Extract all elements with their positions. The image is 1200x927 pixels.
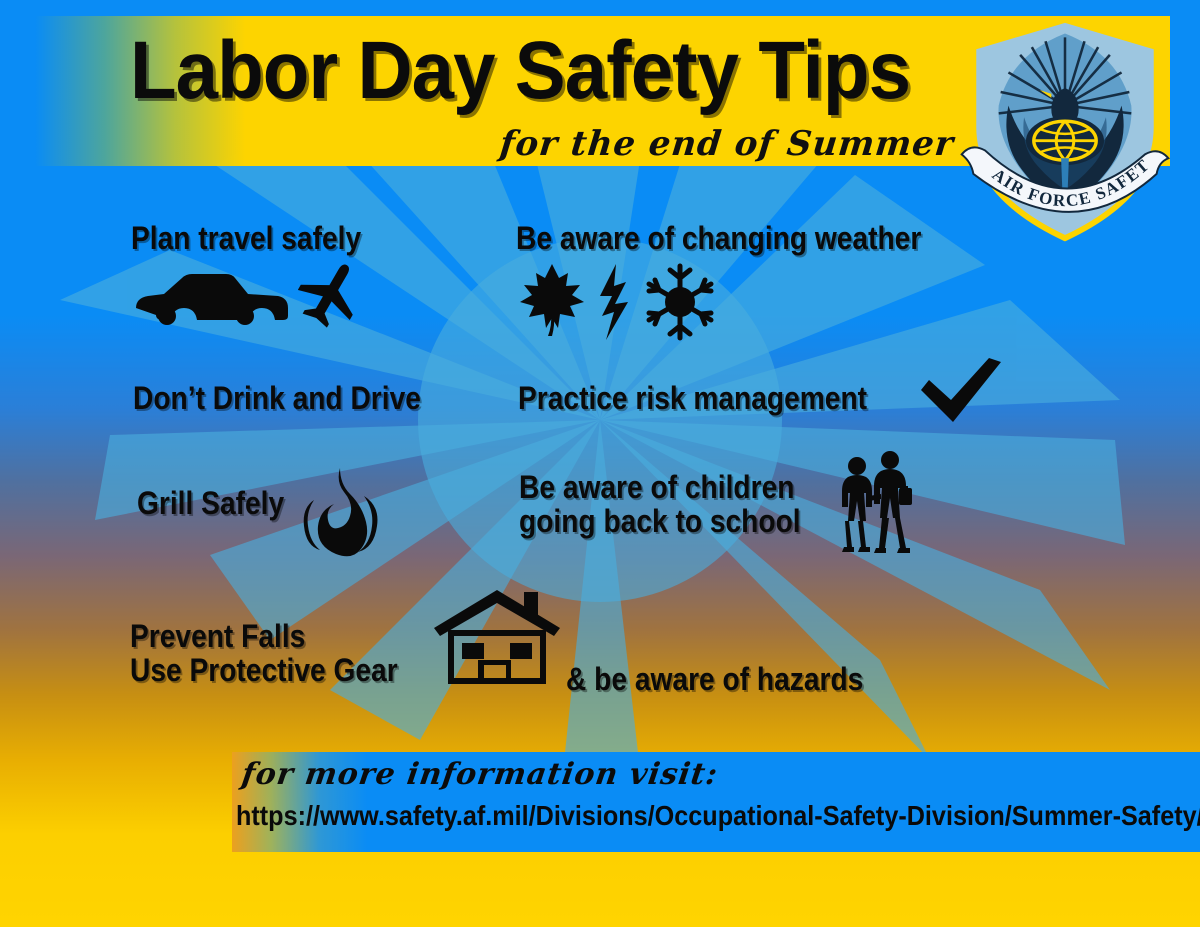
footer-url-link[interactable]: https://www.safety.af.mil/Divisions/Occu… xyxy=(236,800,1200,832)
air-force-safety-center-logo-icon: AIR FORCE SAFETY CENTER xyxy=(948,12,1182,246)
tip-prevent-falls-label: Prevent Falls Use Protective Gear xyxy=(130,620,398,688)
car-icon xyxy=(130,266,290,326)
lightning-bolt-icon xyxy=(594,262,636,342)
house-icon xyxy=(432,588,562,688)
tip-children-school-label: Be aware of children going back to schoo… xyxy=(519,471,801,539)
airplane-icon xyxy=(298,258,368,328)
tip-falls-line2: Use Protective Gear xyxy=(130,652,398,688)
checkmark-icon xyxy=(917,356,1003,428)
tip-dont-drink-and-drive-label: Don’t Drink and Drive xyxy=(133,382,421,416)
tip-hazards-label: & be aware of hazards xyxy=(566,663,863,697)
page-title: Labor Day Safety Tips xyxy=(130,30,910,112)
poster-canvas: Labor Day Safety Tips for the end of Sum… xyxy=(0,0,1200,927)
flame-icon xyxy=(300,466,380,564)
tip-risk-management-label: Practice risk management xyxy=(518,382,867,416)
tip-grill-safely-label: Grill Safely xyxy=(137,487,284,521)
snowflake-icon xyxy=(640,262,720,342)
children-walking-icon xyxy=(836,450,914,554)
footer-visit-label: for more information visit: xyxy=(240,757,721,792)
tip-falls-line1: Prevent Falls xyxy=(130,618,305,654)
page-subtitle: for the end of Summer xyxy=(498,124,956,164)
tip-plan-travel-label: Plan travel safely xyxy=(131,222,361,256)
tip-weather-label: Be aware of changing weather xyxy=(516,222,921,256)
leaf-icon xyxy=(518,262,586,338)
tip-children-line1: Be aware of children xyxy=(519,469,794,505)
tip-children-line2: going back to school xyxy=(519,503,801,539)
